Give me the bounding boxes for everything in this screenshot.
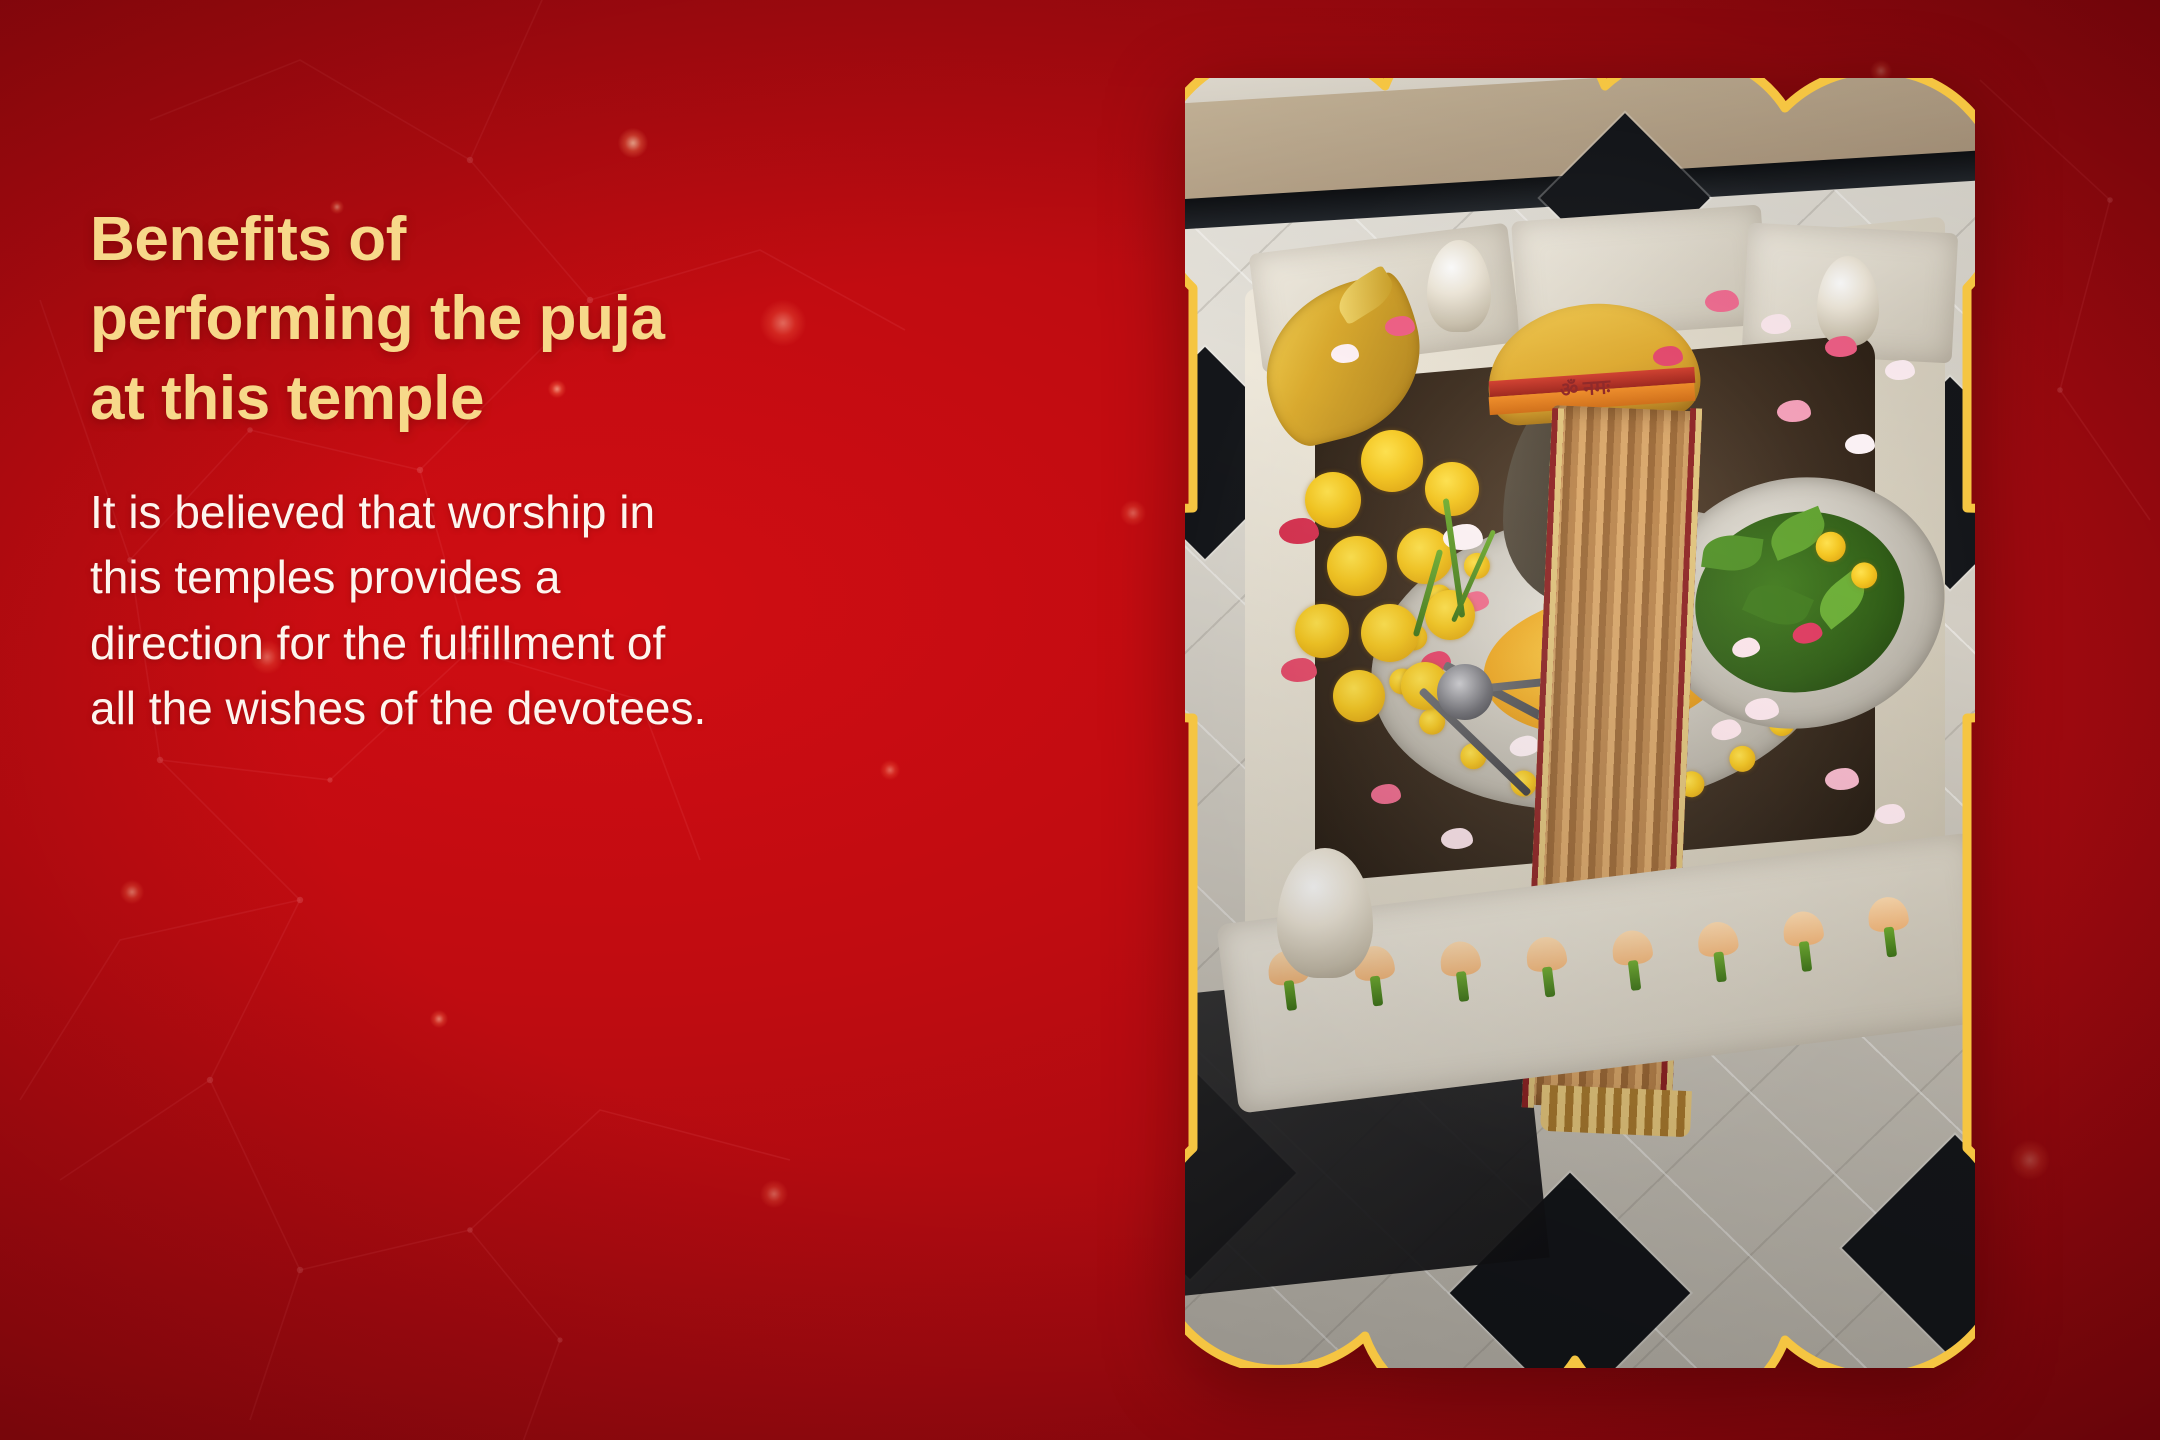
body-line-1: It is believed that worship in bbox=[90, 480, 1040, 545]
slide-canvas: Benefits of performing the puja at this … bbox=[0, 0, 2160, 1440]
text-column: Benefits of performing the puja at this … bbox=[90, 200, 1090, 741]
photo-frame-outline: ॐ नमः bbox=[1185, 78, 1975, 1368]
body-line-4: all the wishes of the devotees. bbox=[90, 676, 1040, 741]
headline-line-1: Benefits of bbox=[90, 200, 990, 279]
headline-line-3: at this temple bbox=[90, 359, 990, 438]
page-title: Benefits of performing the puja at this … bbox=[90, 200, 990, 438]
body-paragraph: It is believed that worship in this temp… bbox=[90, 480, 1040, 741]
body-line-2: this temples provides a bbox=[90, 545, 1040, 610]
headline-line-2: performing the puja bbox=[90, 279, 990, 358]
temple-photo-card: ॐ नमः bbox=[1185, 78, 1975, 1368]
body-line-3: direction for the fulfillment of bbox=[90, 611, 1040, 676]
temple-shrine-photo: ॐ नमः bbox=[1185, 78, 1975, 1368]
